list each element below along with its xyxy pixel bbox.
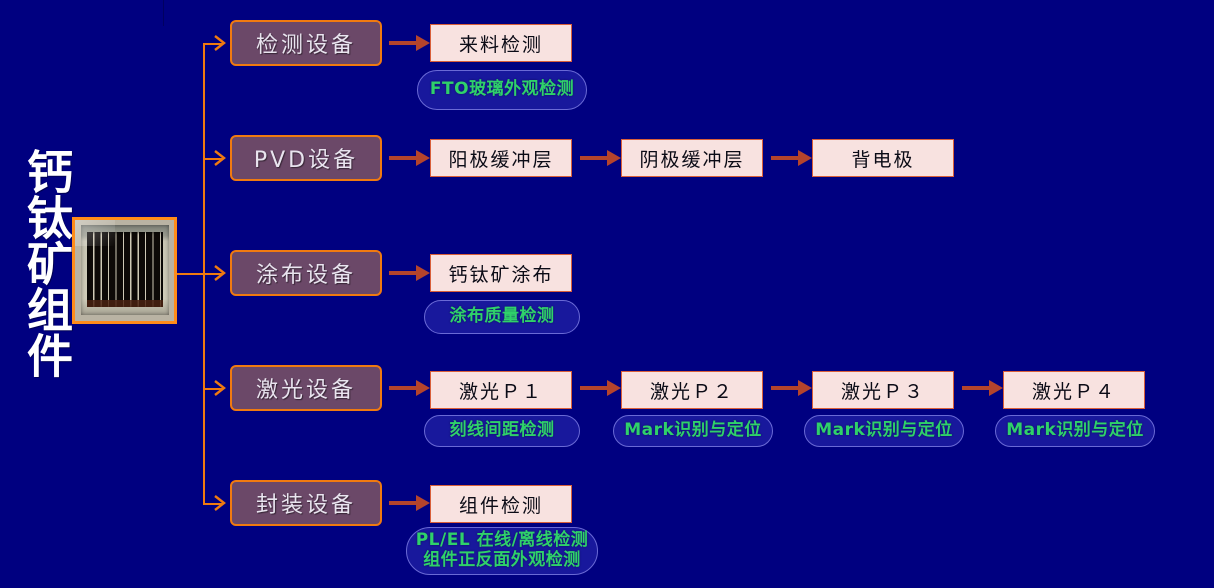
equipment-box-pvd[interactable]: PVD设备 (230, 135, 382, 181)
inspection-pill-mark-p2[interactable]: Mark识别与定位 (613, 415, 773, 447)
equipment-box-inspection[interactable]: 检测设备 (230, 20, 382, 66)
branch-arrow-4 (213, 379, 227, 397)
inspection-pill-mark-p4[interactable]: Mark识别与定位 (995, 415, 1155, 447)
process-box-incoming-inspection[interactable]: 来料检测 (430, 24, 572, 62)
process-arrow-r4-s2 (580, 386, 608, 390)
flowchart-canvas: 钙钛矿组件 检测设备 来料检测 FTO玻璃外观检测 PVD设备 阳极缓冲层 阴极… (0, 0, 1214, 588)
process-box-back-electrode[interactable]: 背电极 (812, 139, 954, 177)
top-artifact-line (163, 0, 164, 26)
process-box-cathode-buffer[interactable]: 阴极缓冲层 (621, 139, 763, 177)
inspection-pill-fto-line1: FTO玻璃外观检测 (430, 80, 574, 100)
inspection-pill-plel-line2: 组件正反面外观检测 (423, 551, 581, 571)
inspection-pill-coating-quality[interactable]: 涂布质量检测 (424, 300, 580, 334)
perovskite-module-photo (72, 217, 177, 324)
process-box-module-inspection[interactable]: 组件检测 (430, 485, 572, 523)
process-arrow-r2-s2 (580, 156, 608, 160)
process-arrow-r1-s1 (389, 41, 417, 45)
equipment-box-coating[interactable]: 涂布设备 (230, 250, 382, 296)
process-arrow-r3-s1 (389, 271, 417, 275)
photo-glare (75, 220, 115, 246)
branch-arrow-1 (213, 34, 227, 52)
process-arrow-r4-s4 (962, 386, 990, 390)
inspection-pill-mark-p3[interactable]: Mark识别与定位 (804, 415, 964, 447)
process-box-laser-p2[interactable]: 激光Ｐ２ (621, 371, 763, 409)
trunk-stub (177, 273, 204, 275)
inspection-pill-mark-p4-line1: Mark识别与定位 (1006, 421, 1144, 441)
process-box-laser-p1[interactable]: 激光Ｐ１ (430, 371, 572, 409)
process-arrow-r5-s1 (389, 501, 417, 505)
process-box-anode-buffer[interactable]: 阳极缓冲层 (430, 139, 572, 177)
process-box-laser-p4[interactable]: 激光Ｐ４ (1003, 371, 1145, 409)
inspection-pill-scribe-pitch-line1: 刻线间距检测 (450, 421, 555, 441)
inspection-pill-mark-p3-line1: Mark识别与定位 (815, 421, 953, 441)
inspection-pill-scribe-pitch[interactable]: 刻线间距检测 (424, 415, 580, 447)
equipment-box-encapsulation[interactable]: 封装设备 (230, 480, 382, 526)
inspection-pill-coating-quality-line1: 涂布质量检测 (450, 307, 555, 327)
branch-arrow-2 (213, 149, 227, 167)
process-arrow-r2-s1 (389, 156, 417, 160)
process-arrow-r4-s3 (771, 386, 799, 390)
process-arrow-r4-s1 (389, 386, 417, 390)
page-title: 钙钛矿组件 (8, 148, 68, 378)
branch-arrow-3 (213, 264, 227, 282)
process-box-laser-p3[interactable]: 激光Ｐ３ (812, 371, 954, 409)
inspection-pill-plel[interactable]: PL/EL 在线/离线检测 组件正反面外观检测 (406, 527, 598, 575)
process-arrow-r2-s3 (771, 156, 799, 160)
inspection-pill-fto[interactable]: FTO玻璃外观检测 (417, 70, 587, 110)
inspection-pill-plel-line1: PL/EL 在线/离线检测 (416, 531, 589, 551)
branch-arrow-5 (213, 494, 227, 512)
inspection-pill-mark-p2-line1: Mark识别与定位 (624, 421, 762, 441)
equipment-box-laser[interactable]: 激光设备 (230, 365, 382, 411)
process-box-perovskite-coating[interactable]: 钙钛矿涂布 (430, 254, 572, 292)
